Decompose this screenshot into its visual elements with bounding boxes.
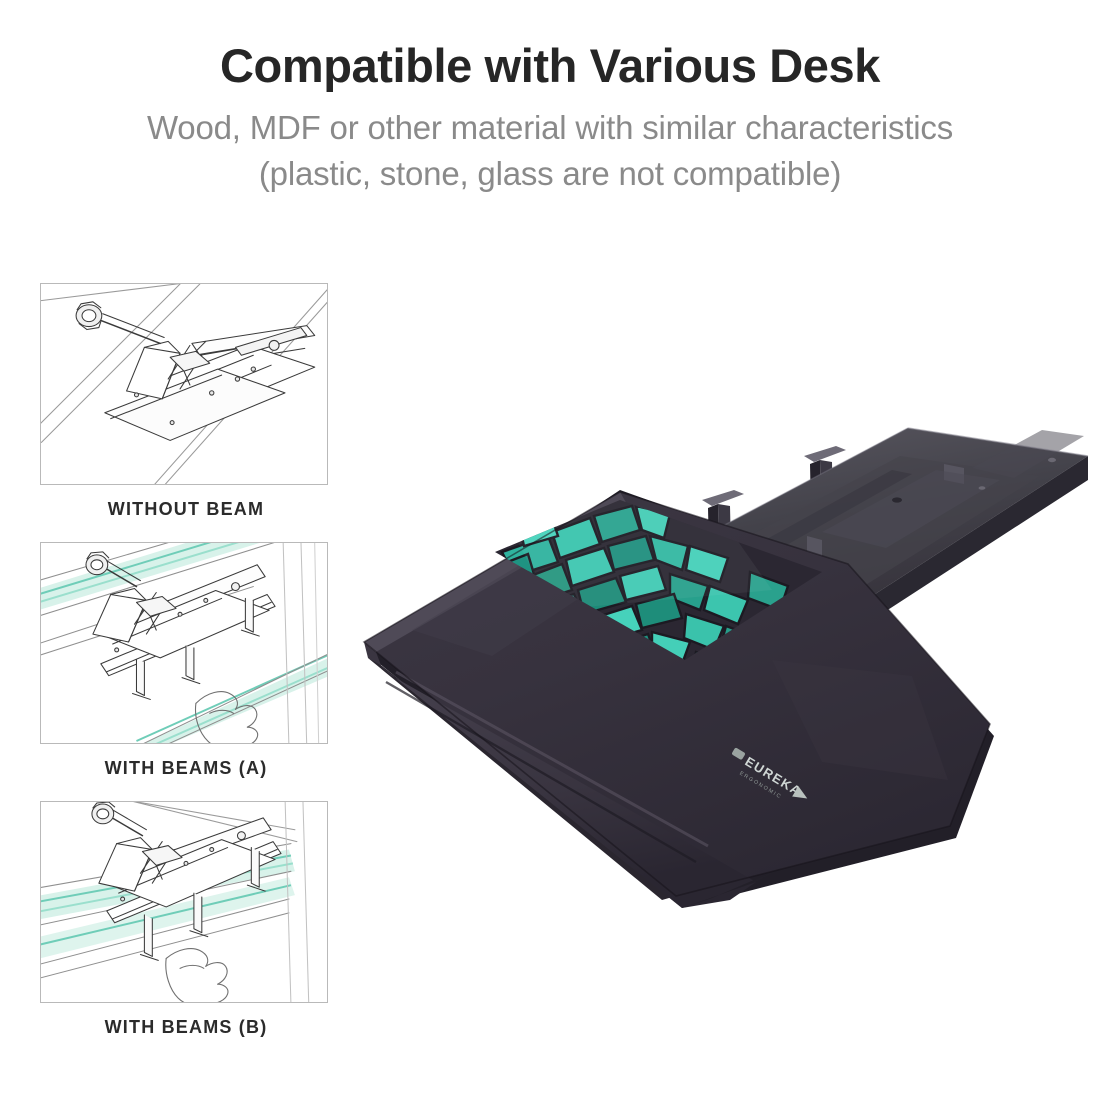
- thumbnail-with-beams-a[interactable]: [40, 542, 328, 744]
- header: Compatible with Various Desk Wood, MDF o…: [0, 0, 1100, 196]
- subtitle-line-1: Wood, MDF or other material with similar…: [147, 109, 953, 146]
- list-item[interactable]: WITHOUT BEAM: [40, 283, 332, 520]
- list-item[interactable]: WITH BEAMS (B): [40, 801, 332, 1038]
- thumbnail-caption: WITHOUT BEAM: [40, 485, 332, 520]
- product-infographic: Compatible with Various Desk Wood, MDF o…: [0, 0, 1100, 1100]
- subtitle-line-2: (plastic, stone, glass are not compatibl…: [0, 151, 1100, 197]
- page-title: Compatible with Various Desk: [0, 0, 1100, 89]
- thumbnail-caption: WITH BEAMS (B): [40, 1003, 332, 1038]
- thumbnail-with-beams-b[interactable]: [40, 801, 328, 1003]
- page-subtitle: Wood, MDF or other material with similar…: [0, 89, 1100, 196]
- mounting-options-list: WITHOUT BEAM: [40, 283, 332, 1060]
- list-item[interactable]: WITH BEAMS (A): [40, 542, 332, 779]
- thumbnail-caption: WITH BEAMS (A): [40, 744, 332, 779]
- product-photo[interactable]: EUREKA ERGONOMIC: [352, 360, 1100, 940]
- thumbnail-without-beam[interactable]: [40, 283, 328, 485]
